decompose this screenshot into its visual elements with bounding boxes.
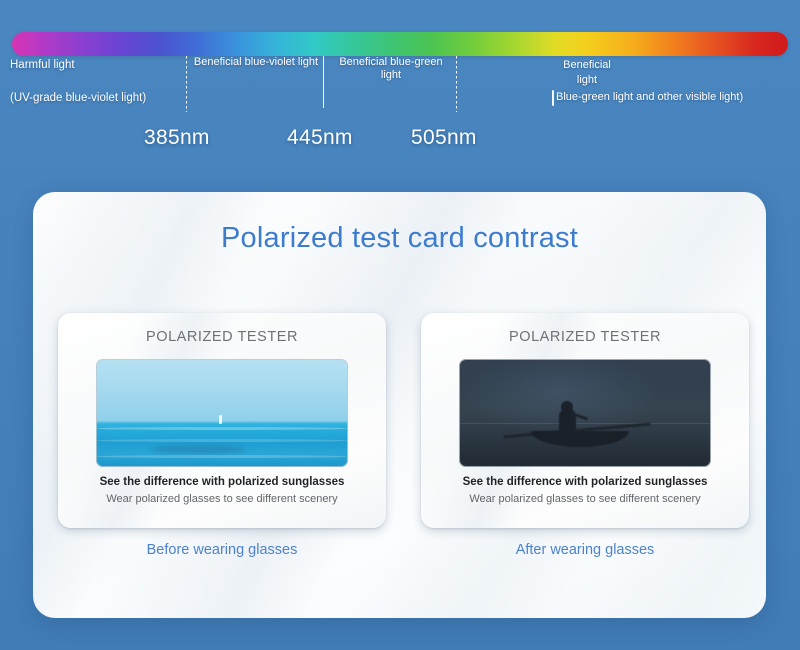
band-sublabel-harmful: (UV-grade blue-violet light) <box>10 91 146 105</box>
kayaker-head-icon <box>561 401 573 413</box>
wavelength-label-385: 385nm <box>144 126 210 150</box>
caption-before-wearing: Before wearing glasses <box>58 541 386 560</box>
page-title: Polarized test card contrast <box>33 222 766 255</box>
caption-after-wearing: After wearing glasses <box>421 541 749 560</box>
ocean-streak <box>96 455 348 458</box>
band-label-beneficial: Beneficial light <box>556 58 618 88</box>
band-label-blue-green: Beneficial blue-green light <box>330 56 452 83</box>
band-label-blue-violet: Beneficial blue-violet light <box>192 56 320 69</box>
spectrum-gradient-bar <box>12 32 788 56</box>
card-tagline-before: See the difference with polarized sungla… <box>58 476 386 488</box>
tester-card-before[interactable]: POLARIZED TESTER See the difference with… <box>58 313 386 528</box>
ocean-streak <box>96 427 348 430</box>
card-image-after <box>459 359 711 467</box>
card-subtext-before: Wear polarized glasses to see different … <box>104 492 340 506</box>
card-image-before <box>96 359 348 467</box>
band-sublabel-beneficial: Blue-green light and other visible light… <box>556 91 743 104</box>
card-header-before: POLARIZED TESTER <box>58 329 386 345</box>
card-header-after: POLARIZED TESTER <box>421 329 749 345</box>
band-label-harmful: Harmful light <box>10 58 75 72</box>
bluegreen-tick-icon <box>552 90 554 106</box>
wavelength-label-505: 505nm <box>411 126 477 150</box>
kayak-hull-icon <box>531 431 629 447</box>
comparison-panel: Polarized test card contrast POLARIZED T… <box>33 192 766 618</box>
ocean-streak <box>96 439 348 442</box>
spectrum-divider-385 <box>186 56 187 112</box>
sailboat-speck-icon <box>219 415 222 424</box>
wavelength-label-445: 445nm <box>287 126 353 150</box>
tester-card-after[interactable]: POLARIZED TESTER See the difference with… <box>421 313 749 528</box>
light-spectrum-section: Harmful light (UV-grade blue-violet ligh… <box>0 0 800 175</box>
ocean-shadow <box>151 445 246 454</box>
card-subtext-after: Wear polarized glasses to see different … <box>467 492 703 506</box>
spectrum-divider-505 <box>456 56 457 112</box>
card-tagline-after: See the difference with polarized sungla… <box>421 476 749 488</box>
horizon-line <box>459 423 711 424</box>
spectrum-divider-445 <box>323 56 324 108</box>
